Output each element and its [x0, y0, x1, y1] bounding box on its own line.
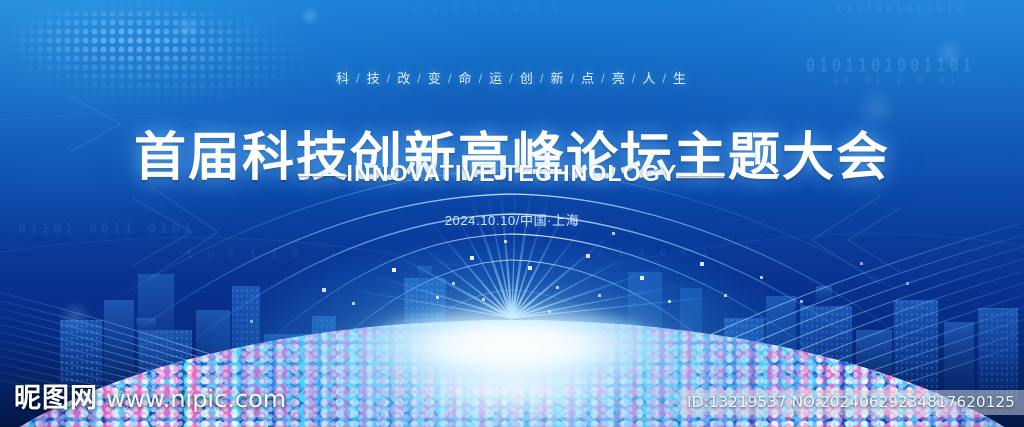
- watermark: 昵图网 www.nipic.com: [14, 376, 286, 415]
- kicker-char: 新: [550, 71, 565, 86]
- poster-canvas: 0101101001101 10 01 1 0 01 01101 0011 01…: [0, 0, 1024, 427]
- kicker-char: 命: [459, 71, 474, 86]
- kicker-line: 科/技/改/变/命/运/创/新/点/亮/人/生: [0, 68, 1024, 87]
- kicker-separator: /: [387, 71, 393, 86]
- kicker-char: 改: [397, 71, 412, 86]
- kicker-char: 生: [673, 71, 688, 86]
- globe-hotspot: [362, 306, 662, 384]
- kicker-char: 亮: [612, 71, 627, 86]
- image-id-badge: ID:13219537 NO:20240629234817620125: [677, 390, 1024, 415]
- kicker-separator: /: [479, 71, 485, 86]
- kicker-char: 科: [336, 71, 351, 86]
- kicker-separator: /: [356, 71, 362, 86]
- kicker-char: 创: [520, 71, 535, 86]
- kicker-separator: /: [662, 71, 668, 86]
- watermark-logo-text: 昵图网: [14, 376, 98, 415]
- kicker-separator: /: [570, 71, 576, 86]
- kicker-separator: /: [632, 71, 638, 86]
- kicker-separator: /: [509, 71, 515, 86]
- kicker-char: 运: [489, 71, 504, 86]
- watermark-url-text: www.nipic.com: [106, 385, 286, 413]
- kicker-char: 点: [581, 71, 596, 86]
- kicker-char: 技: [367, 71, 382, 86]
- kicker-char: 人: [642, 71, 657, 86]
- kicker-char: 变: [428, 71, 443, 86]
- kicker-separator: /: [448, 71, 454, 86]
- kicker-separator: /: [540, 71, 546, 86]
- kicker-separator: /: [417, 71, 423, 86]
- kicker-separator: /: [601, 71, 607, 86]
- english-subtitle: ——INNOVATIVE TECHNOLOGY——: [0, 160, 1024, 187]
- event-date-location: 2024.10.10/中国·上海: [0, 210, 1024, 229]
